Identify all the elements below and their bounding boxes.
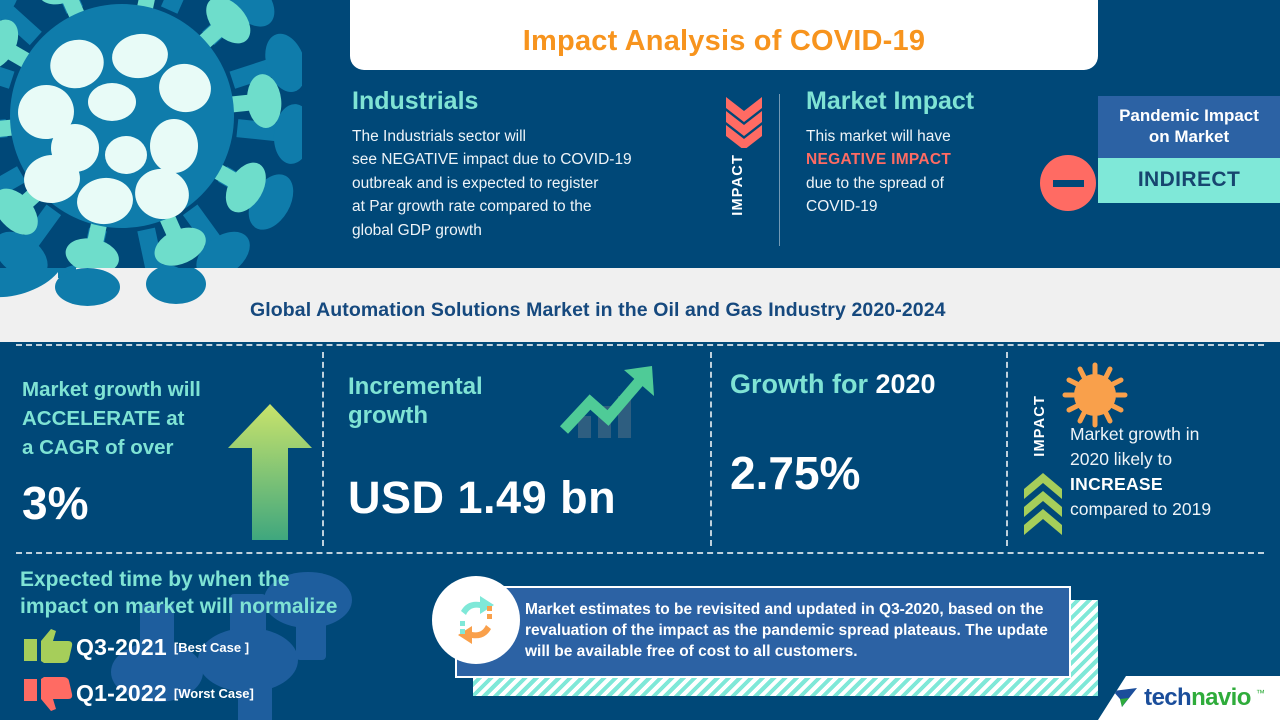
thumbs-up-icon — [20, 629, 76, 667]
technavio-mark-icon — [1113, 688, 1139, 708]
cagr-value: 3% — [22, 480, 252, 526]
normalize-quarter-best: Q3-2021 — [76, 634, 167, 661]
incremental-growth-value: USD 1.49 bn — [348, 475, 668, 520]
virus-spike-blob — [55, 268, 120, 306]
thumbs-down-icon — [20, 675, 76, 713]
industrials-line-2: see NEGATIVE impact due to COVID-19 — [352, 148, 714, 172]
normalize-case-best: [Best Case ] — [174, 640, 249, 655]
normalize-row-best-case: Q3-2021 [Best Case ] — [20, 629, 410, 667]
growth-2020-label: Growth for 2020 — [730, 370, 990, 400]
impact-label-2020: IMPACT — [1032, 395, 1048, 457]
market-impact-emphasis: NEGATIVE IMPACT — [806, 148, 1036, 172]
impact-rail-top: IMPACT — [712, 96, 774, 256]
market-impact-line-1: This market will have — [806, 125, 1036, 149]
cagr-label: Market growth will ACCELERATE at a CAGR … — [22, 375, 252, 462]
page-title: Impact Analysis of COVID-19 — [523, 25, 925, 70]
growth-2020-label-prefix: Growth for — [730, 369, 875, 399]
infographic-page: Impact Analysis of COVID-19 Industrials … — [0, 0, 1280, 720]
technavio-wordmark: technavio — [1144, 684, 1251, 712]
market-impact-line-3: due to the spread of — [806, 172, 1036, 196]
industrials-line-1: The Industrials sector will — [352, 125, 714, 149]
normalize-block: Expected time by when the impact on mark… — [20, 566, 410, 713]
cagr-label-line-3: a CAGR of over — [22, 433, 252, 462]
impact-2020-line-1: Market growth in — [1070, 422, 1276, 447]
top-section: Impact Analysis of COVID-19 Industrials … — [0, 0, 1280, 268]
refresh-badge — [432, 576, 520, 664]
market-impact-block: Market Impact This market will have NEGA… — [806, 88, 1036, 219]
divider-growth-impact — [1006, 352, 1008, 546]
double-chevron-up-icon — [1024, 473, 1062, 535]
impact-2020-text: Market growth in 2020 likely to INCREASE… — [1070, 422, 1276, 521]
note-text: Market estimates to be revisited and upd… — [525, 601, 1048, 660]
technavio-logo: technavio ™ — [1098, 676, 1280, 720]
up-arrow-icon — [228, 404, 312, 540]
normalize-heading-line-2: impact on market will normalize — [20, 593, 410, 620]
refresh-cycle-icon — [447, 591, 505, 649]
pandemic-impact-panel: Pandemic Impact on Market INDIRECT — [1098, 96, 1280, 203]
market-impact-heading: Market Impact — [806, 88, 1036, 116]
virus-spike-blob — [146, 268, 206, 304]
minus-circle-icon — [1040, 155, 1096, 211]
impact-2020-emphasis: INCREASE — [1070, 474, 1163, 494]
industrials-line-3: outbreak and is expected to register — [352, 172, 714, 196]
divider-cagr-incremental — [322, 352, 324, 546]
pandemic-impact-heading-line-1: Pandemic Impact — [1110, 106, 1268, 127]
growth-2020-value: 2.75% — [730, 450, 990, 496]
divider-incremental-growth — [710, 352, 712, 546]
market-impact-line-4: COVID-19 — [806, 195, 1036, 219]
cagr-metric: Market growth will ACCELERATE at a CAGR … — [22, 375, 252, 526]
cagr-label-line-2: ACCELERATE at — [22, 404, 252, 433]
normalize-heading-line-1: Expected time by when the — [20, 566, 410, 593]
coronavirus-illustration-icon — [0, 0, 302, 268]
industrials-body: The Industrials sector will see NEGATIVE… — [352, 125, 714, 243]
growth-2020-label-year: 2020 — [875, 369, 935, 399]
normalize-row-worst-case: Q1-2022 [Worst Case] — [20, 675, 410, 713]
title-card: Impact Analysis of COVID-19 — [350, 0, 1098, 70]
trend-up-chart-icon — [556, 362, 668, 442]
market-report-title: Global Automation Solutions Market in th… — [250, 299, 946, 322]
impact-2020-line-4: compared to 2019 — [1070, 497, 1276, 522]
normalize-quarter-worst: Q1-2022 — [76, 680, 167, 707]
industrials-block: Industrials The Industrials sector will … — [352, 88, 714, 242]
industrials-line-4: at Par growth rate compared to the — [352, 195, 714, 219]
market-impact-body: This market will have NEGATIVE IMPACT du… — [806, 125, 1036, 219]
pandemic-impact-heading: Pandemic Impact on Market — [1098, 96, 1280, 158]
normalize-case-worst: [Worst Case] — [174, 686, 254, 701]
impact-2020-block: IMPACT Market growth in 2020 likely to I… — [1010, 355, 1278, 551]
logo-word-tech: tech — [1144, 684, 1191, 711]
double-chevron-down-icon — [726, 96, 762, 148]
note-callout: Market estimates to be revisited and upd… — [455, 586, 1080, 686]
logo-trademark: ™ — [1256, 688, 1265, 698]
pandemic-impact-value: INDIRECT — [1098, 158, 1280, 203]
virus-sun-icon — [1062, 362, 1128, 428]
note-box: Market estimates to be revisited and upd… — [455, 586, 1071, 678]
vertical-divider-top — [779, 94, 780, 246]
industrials-line-5: global GDP growth — [352, 219, 714, 243]
impact-2020-line-2: 2020 likely to — [1070, 447, 1276, 472]
pandemic-impact-heading-line-2: on Market — [1110, 127, 1268, 148]
logo-word-navio: navio — [1191, 684, 1251, 711]
growth-2020-metric: Growth for 2020 2.75% — [730, 370, 990, 496]
impact-label-top: IMPACT — [730, 154, 746, 216]
divider-top-dashed — [16, 344, 1264, 346]
industrials-heading: Industrials — [352, 88, 714, 116]
normalize-heading: Expected time by when the impact on mark… — [20, 566, 410, 621]
cagr-label-line-1: Market growth will — [22, 375, 252, 404]
